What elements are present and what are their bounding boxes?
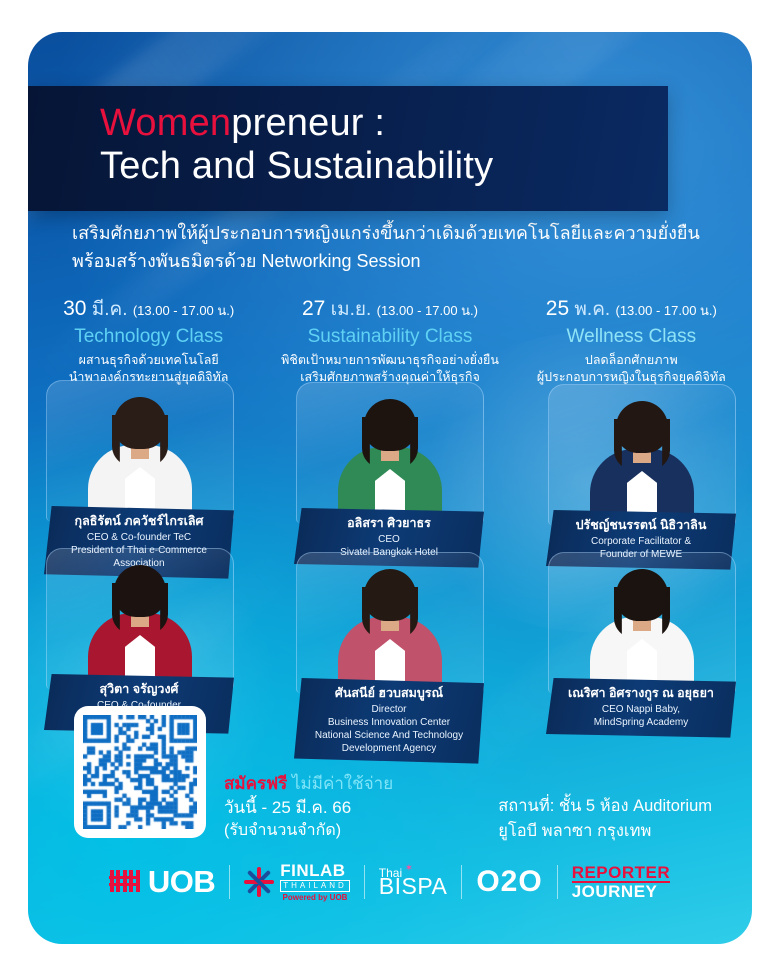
- session-date-month: เม.ย.: [331, 299, 372, 320]
- speaker-card: กุลธิรัตน์ ภควัชร์ไกรเลิศCEO & Co-founde…: [46, 380, 232, 552]
- speaker-role-line: Director: [300, 703, 478, 716]
- thaibispa-logo: Thai ✶ BISPA: [379, 867, 448, 898]
- speaker-role: DirectorBusiness Innovation CenterNation…: [300, 703, 478, 755]
- session-column-1: 30 มี.ค. (13.00 - 17.00 น.) Technology C…: [28, 294, 269, 386]
- speaker-card: ศันสนีย์ ฮวบสมบูรณ์DirectorBusiness Inno…: [296, 552, 482, 724]
- uob-bar: [129, 870, 133, 892]
- speaker-card: สุวิตา จรัญวงศ์CEO & Co-founderTellscore: [46, 548, 232, 720]
- thaibispa-star-icon: ✶: [405, 864, 413, 874]
- logo-divider: [461, 865, 462, 899]
- session-date-month: มี.ค.: [92, 299, 128, 320]
- journey-label: JOURNEY: [572, 883, 670, 900]
- speaker-name: สุวิตา จรัญวงศ์: [50, 682, 228, 698]
- speaker-photo-frame: [548, 552, 736, 693]
- session-date-month: พ.ค.: [574, 299, 610, 320]
- logo-divider: [557, 865, 558, 899]
- session-class-name-2: Sustainability Class: [273, 326, 506, 348]
- session-desc-line: ปลดล็อกศักยภาพ: [515, 352, 748, 369]
- session-date-3: 25 พ.ค. (13.00 - 17.00 น.): [515, 294, 748, 324]
- finlab-logo: FINLAB THAILAND Powered by UOB: [244, 862, 350, 902]
- uob-bar: [116, 870, 120, 892]
- speaker-portrait: [81, 561, 199, 689]
- o2o-logo: O2O: [476, 865, 542, 899]
- sponsor-logo-bar: UOB FINLAB THAILAND Powered by UOB Thai …: [28, 862, 752, 902]
- finlab-country: THAILAND: [280, 880, 350, 892]
- reporter-journey-logo: REPORTER JOURNEY: [572, 864, 670, 901]
- session-date-number: 27: [302, 297, 325, 320]
- speaker-portrait: [583, 565, 701, 693]
- session-desc-line: ผสานธุรกิจด้วยเทคโนโลยี: [32, 352, 265, 369]
- speaker-hair-top: [616, 401, 668, 453]
- speaker-role-line: CEO Nappi Baby,: [552, 703, 730, 716]
- uob-logo: UOB: [110, 864, 215, 900]
- session-class-name-3: Wellness Class: [515, 326, 748, 348]
- speaker-portrait: [81, 393, 199, 521]
- logo-divider: [229, 865, 230, 899]
- title-line-1: Womenpreneur :: [28, 102, 668, 145]
- speaker-card: ปรัชญ์ชนรรตน์ นิธิวาลินCorporate Facilit…: [548, 384, 734, 556]
- subtitle-line-1: เสริมศักยภาพให้ผู้ประกอบการหญิงแกร่งขึ้น…: [72, 220, 732, 248]
- speaker-nameplate: เณริศา อิศรางกูร ณ อยุธยาCEO Nappi Baby,…: [546, 678, 736, 738]
- speaker-name: กุลธิรัตน์ ภควัชร์ไกรเลิศ: [50, 514, 228, 530]
- speaker-name: อลิสรา ศิวยาธร: [300, 516, 478, 532]
- session-time: (13.00 - 17.00 น.): [377, 303, 478, 318]
- session-class-name-1: Technology Class: [32, 326, 265, 348]
- session-date-2: 27 เม.ย. (13.00 - 17.00 น.): [273, 294, 506, 324]
- speaker-card: อลิสรา ศิวยาธรCEOSivatel Bangkok Hotel: [296, 382, 482, 554]
- session-column-3: 25 พ.ค. (13.00 - 17.00 น.) Wellness Clas…: [511, 294, 752, 386]
- subtitle-line-2: พร้อมสร้างพันธมิตรด้วย Networking Sessio…: [72, 248, 732, 276]
- speaker-role-line: MindSpring Academy: [552, 716, 730, 729]
- session-desc-line: พิชิตเป้าหมายการพัฒนาธุรกิจอย่างยั่งยืน: [273, 352, 506, 369]
- registration-info: สมัครฟรี ไม่มีค่าใช้จ่าย วันนี้ - 25 มี.…: [224, 772, 393, 842]
- speaker-hair-top: [364, 569, 416, 621]
- speaker-photo-frame: [46, 548, 234, 689]
- registration-period: วันนี้ - 25 มี.ค. 66: [224, 796, 393, 820]
- session-date-1: 30 มี.ค. (13.00 - 17.00 น.): [32, 294, 265, 324]
- speaker-hair-top: [364, 399, 416, 451]
- session-column-2: 27 เม.ย. (13.00 - 17.00 น.) Sustainabili…: [269, 294, 510, 386]
- qr-code-icon[interactable]: [83, 715, 197, 829]
- venue-info: สถานที่: ชั้น 5 ห้อง Auditorium ยูโอบี พ…: [498, 794, 712, 844]
- speaker-name: ศันสนีย์ ฮวบสมบูรณ์: [300, 686, 478, 702]
- speaker-role-line: CEO: [300, 533, 478, 546]
- uob-bars: [110, 870, 140, 892]
- uob-cross-line: [109, 876, 139, 879]
- session-date-number: 25: [546, 297, 569, 320]
- speaker-role-line: Corporate Facilitator &: [552, 535, 730, 548]
- speaker-hair-top: [114, 397, 166, 449]
- speaker-portrait: [331, 565, 449, 693]
- registration-nofee-label: ไม่มีค่าใช้จ่าย: [292, 774, 393, 793]
- uob-bar: [123, 870, 127, 892]
- qr-code-card[interactable]: [74, 706, 206, 838]
- thaibispa-name: BISPA: [379, 875, 448, 898]
- speaker-nameplate: ศันสนีย์ ฮวบสมบูรณ์DirectorBusiness Inno…: [294, 678, 484, 764]
- speaker-grid: กุลธิรัตน์ ภควัชร์ไกรเลิศCEO & Co-founde…: [28, 380, 752, 740]
- registration-limit-note: (รับจำนวนจำกัด): [224, 820, 393, 842]
- speaker-role-line: Business Innovation Center: [300, 716, 478, 729]
- session-columns: 30 มี.ค. (13.00 - 17.00 น.) Technology C…: [28, 294, 752, 386]
- uob-wordmark: UOB: [148, 864, 215, 900]
- uob-bar: [136, 870, 140, 892]
- logo-divider: [364, 865, 365, 899]
- title-rest: preneur :: [231, 102, 385, 144]
- speaker-role-line: Development Agency: [300, 742, 478, 755]
- speaker-photo-frame: [46, 380, 234, 521]
- speaker-photo-frame: [548, 384, 736, 525]
- subtitle: เสริมศักยภาพให้ผู้ประกอบการหญิงแกร่งขึ้น…: [72, 220, 732, 276]
- registration-free-label: สมัครฟรี: [224, 774, 287, 793]
- reporter-label: REPORTER: [572, 864, 670, 883]
- venue-line-2: ยูโอบี พลาซา กรุงเทพ: [498, 819, 712, 844]
- speaker-hair-top: [616, 569, 668, 621]
- speaker-photo-frame: [296, 552, 484, 693]
- speaker-portrait: [583, 397, 701, 525]
- speaker-name: ปรัชญ์ชนรรตน์ นิธิวาลิน: [552, 518, 730, 534]
- registration-free-line: สมัครฟรี ไม่มีค่าใช้จ่าย: [224, 772, 393, 796]
- venue-line-1: สถานที่: ชั้น 5 ห้อง Auditorium: [498, 794, 712, 819]
- speaker-role: CEO Nappi Baby,MindSpring Academy: [552, 703, 730, 729]
- finlab-name: FINLAB: [280, 862, 350, 879]
- uob-cross-line: [109, 883, 139, 886]
- poster-card: Womenpreneur : Tech and Sustainability เ…: [28, 32, 752, 944]
- title-banner: Womenpreneur : Tech and Sustainability: [28, 86, 668, 211]
- speaker-hair-top: [114, 565, 166, 617]
- speaker-role-line: CEO & Co-founder TeC: [50, 531, 228, 544]
- speaker-card: เณริศา อิศรางกูร ณ อยุธยาCEO Nappi Baby,…: [548, 552, 734, 724]
- speaker-photo-frame: [296, 382, 484, 523]
- finlab-star-icon: [244, 867, 274, 897]
- uob-bar: [110, 870, 114, 892]
- finlab-text: FINLAB THAILAND Powered by UOB: [280, 862, 350, 902]
- speaker-name: เณริศา อิศรางกูร ณ อยุธยา: [552, 686, 730, 702]
- session-time: (13.00 - 17.00 น.): [615, 303, 716, 318]
- title-line-2: Tech and Sustainability: [28, 145, 668, 188]
- session-time: (13.00 - 17.00 น.): [133, 303, 234, 318]
- speaker-role-line: National Science And Technology: [300, 729, 478, 742]
- finlab-powered-by: Powered by UOB: [280, 894, 350, 902]
- session-date-number: 30: [63, 297, 86, 320]
- uob-mark-icon: [110, 870, 140, 894]
- speaker-portrait: [331, 395, 449, 523]
- title-highlight: Women: [100, 102, 231, 144]
